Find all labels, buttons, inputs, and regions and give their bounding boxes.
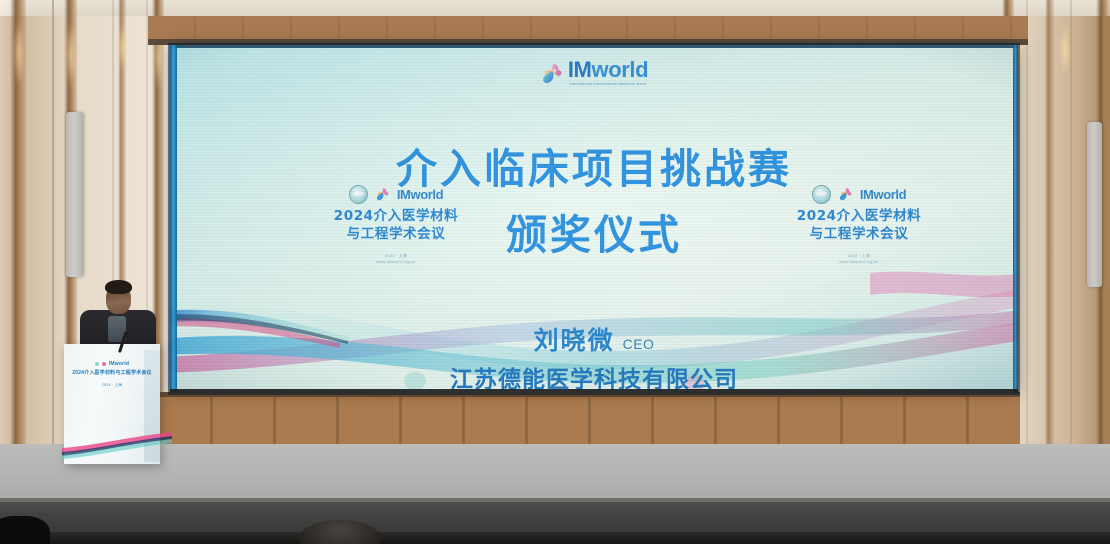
- screen-bezel-bottom: [170, 389, 1018, 393]
- brand-text-block: IMworld International Interventional Med…: [568, 59, 648, 86]
- screen-bezel-left: [170, 45, 177, 393]
- banner-right-brand: IMworld: [860, 187, 906, 202]
- foreground-silhouette-left: [0, 516, 50, 544]
- lectern-branding: IMworld 2024介入医学材料与工程学术会议 2024 · 上海: [64, 360, 160, 389]
- banner-left-line-1: 2024介入医学材料: [333, 208, 459, 226]
- brand-name-im: IM: [568, 57, 592, 82]
- slide-brand-header: IMworld International Interventional Med…: [170, 59, 1018, 86]
- house-floor: [0, 532, 1110, 544]
- banner-right-meta: 2024 · 上海 www.imworld.org.cn: [796, 253, 922, 265]
- conference-seal-icon: [95, 362, 99, 366]
- banner-right-line-2: 与工程学术会议: [796, 226, 922, 244]
- wall-speaker-right: [1087, 122, 1102, 287]
- conference-seal-icon: [812, 185, 831, 204]
- led-presentation-screen[interactable]: IMworld International Interventional Med…: [170, 45, 1018, 393]
- screen-bezel-top: [170, 45, 1018, 48]
- conference-stage-photo: IMworld International Interventional Med…: [0, 0, 1110, 544]
- imworld-flower-logo: [102, 362, 106, 366]
- stage-front-face: [0, 502, 1110, 532]
- banner-right-logos: IMworld: [796, 183, 922, 205]
- lectern-logo-marks: IMworld: [64, 360, 160, 368]
- imworld-flower-logo: [375, 187, 390, 202]
- banner-right-meta-line-2: www.imworld.org.cn: [796, 259, 922, 265]
- wall-light-glow-2: [66, 20, 76, 90]
- conference-seal-icon: [349, 185, 368, 204]
- presenter-hair: [105, 280, 132, 294]
- upper-wood-band: [148, 16, 1028, 39]
- imworld-flower-logo: [540, 62, 562, 84]
- ceiling-strip: [0, 0, 1110, 16]
- wall-light-glow-1: [14, 18, 24, 88]
- lectern-brand: IMworld: [109, 360, 129, 368]
- brand-name-world: world: [591, 57, 648, 82]
- slide-side-banner-left: IMworld 2024介入医学材料 与工程学术会议 2024 · 上海 www…: [333, 183, 459, 265]
- lower-wood-wall: [150, 397, 1020, 444]
- wall-light-glow-5: [1060, 22, 1070, 77]
- slide-side-banner-right: IMworld 2024介入医学材料 与工程学术会议 2024 · 上海 www…: [796, 183, 922, 265]
- speaker-name: 刘晓微: [534, 326, 615, 355]
- brand-name: IMworld: [568, 59, 648, 81]
- lectern-caption: 2024介入医学材料与工程学术会议: [64, 369, 160, 377]
- brand-tagline: International Interventional Medicine Wo…: [568, 82, 648, 86]
- banner-left-brand: IMworld: [397, 187, 443, 202]
- wall-speaker-left: [66, 112, 84, 277]
- speaker-name-row: 刘晓微CEO: [170, 328, 1018, 353]
- slide-speaker-block: 刘晓微CEO 江苏德能医学科技有限公司: [170, 328, 1018, 393]
- banner-left-logos: IMworld: [333, 183, 459, 205]
- banner-right-line-1: 2024介入医学材料: [796, 208, 922, 226]
- lectern-accent-stripes: [62, 432, 172, 462]
- banner-left-meta: 2024 · 上海 www.imworld.org.cn: [333, 253, 459, 265]
- speaker-role: CEO: [623, 336, 655, 352]
- lectern-meta: 2024 · 上海: [64, 383, 160, 389]
- screen-bezel-right: [1013, 45, 1018, 393]
- imworld-flower-logo: [838, 187, 853, 202]
- wall-light-glow-3: [118, 22, 128, 72]
- banner-left-line-2: 与工程学术会议: [333, 226, 459, 244]
- banner-left-meta-line-2: www.imworld.org.cn: [333, 259, 459, 265]
